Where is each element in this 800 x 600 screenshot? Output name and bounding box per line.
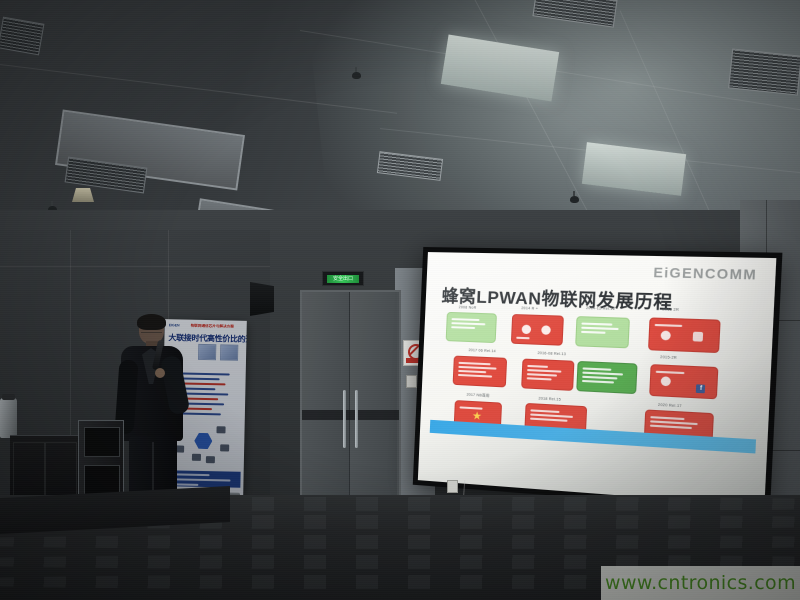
- slide-card: [445, 312, 496, 343]
- slide-card: [648, 318, 722, 353]
- pendant-lamp: [72, 188, 94, 202]
- door-handle[interactable]: [343, 390, 346, 448]
- thermos-flask: [0, 398, 17, 438]
- banner-device-icon: [206, 456, 215, 463]
- card-caption: 2015 2R: [662, 307, 679, 312]
- card-caption: 2014 R +: [521, 306, 538, 311]
- card-caption: 2017 06 Rel.14: [468, 348, 496, 353]
- storage-cabinet: [10, 435, 78, 502]
- projector-screen: EiGENCOMM 蜂窝LPWAN物联网发展历程 2008 NoR 2014 R…: [413, 247, 783, 512]
- banner-thumbnail: [220, 344, 238, 360]
- banner-hub-icon: [194, 433, 212, 449]
- slide-card: [511, 314, 564, 346]
- glasses-icon: [141, 327, 162, 333]
- slide-logo: EiGENCOMM: [653, 265, 757, 283]
- ceiling-vent: [0, 17, 44, 56]
- smoke-detector-icon: [570, 196, 579, 203]
- light-switch[interactable]: [406, 375, 417, 388]
- door-handle[interactable]: [355, 390, 358, 448]
- card-caption: 2016-08 Rel.13: [537, 351, 566, 356]
- slide-card: [452, 356, 507, 388]
- smoke-detector-icon: [352, 72, 361, 79]
- ceiling-vent: [728, 48, 800, 95]
- banner-kicker: 物联网通信芯片与解决方案: [191, 324, 234, 330]
- banner-device-icon: [216, 426, 225, 433]
- slide-card: [575, 316, 630, 348]
- card-caption: 2014-12 Rel.12: [586, 306, 615, 311]
- slide-card: [576, 361, 637, 394]
- watermark: www.cntronics.com: [601, 566, 800, 600]
- double-door[interactable]: [300, 290, 401, 529]
- slide-card: [521, 359, 574, 391]
- banner-thumbnail: [198, 344, 216, 360]
- exit-sign: 安全出口: [322, 271, 364, 286]
- wall-speaker: [250, 282, 274, 316]
- card-caption: 2018 Rel.15: [538, 396, 561, 401]
- slide-card: f: [649, 364, 719, 400]
- card-caption: 2015-2R: [660, 355, 677, 360]
- screen-surface: EiGENCOMM 蜂窝LPWAN物联网发展历程 2008 NoR 2014 R…: [418, 252, 777, 506]
- card-caption: 2008 NoR: [459, 305, 477, 310]
- card-caption: 2020 Rel.17: [658, 402, 682, 408]
- exit-sign-label: 安全出口: [327, 275, 359, 283]
- presentation-slide: EiGENCOMM 蜂窝LPWAN物联网发展历程 2008 NoR 2014 R…: [429, 257, 765, 466]
- banner-device-icon: [192, 454, 201, 461]
- watermark-text: www.cntronics.com: [605, 572, 796, 594]
- banner-device-icon: [220, 444, 229, 451]
- door-kick-band: [302, 410, 399, 420]
- conference-room-photo: 安全出口 EiGENCOMM 蜂窝LPWAN物联网发展历程 2008 NoR: [0, 0, 800, 600]
- wall-outlet: [447, 480, 458, 493]
- presenter-hand: [155, 368, 165, 378]
- card-caption: 2017 NB商用: [466, 392, 489, 398]
